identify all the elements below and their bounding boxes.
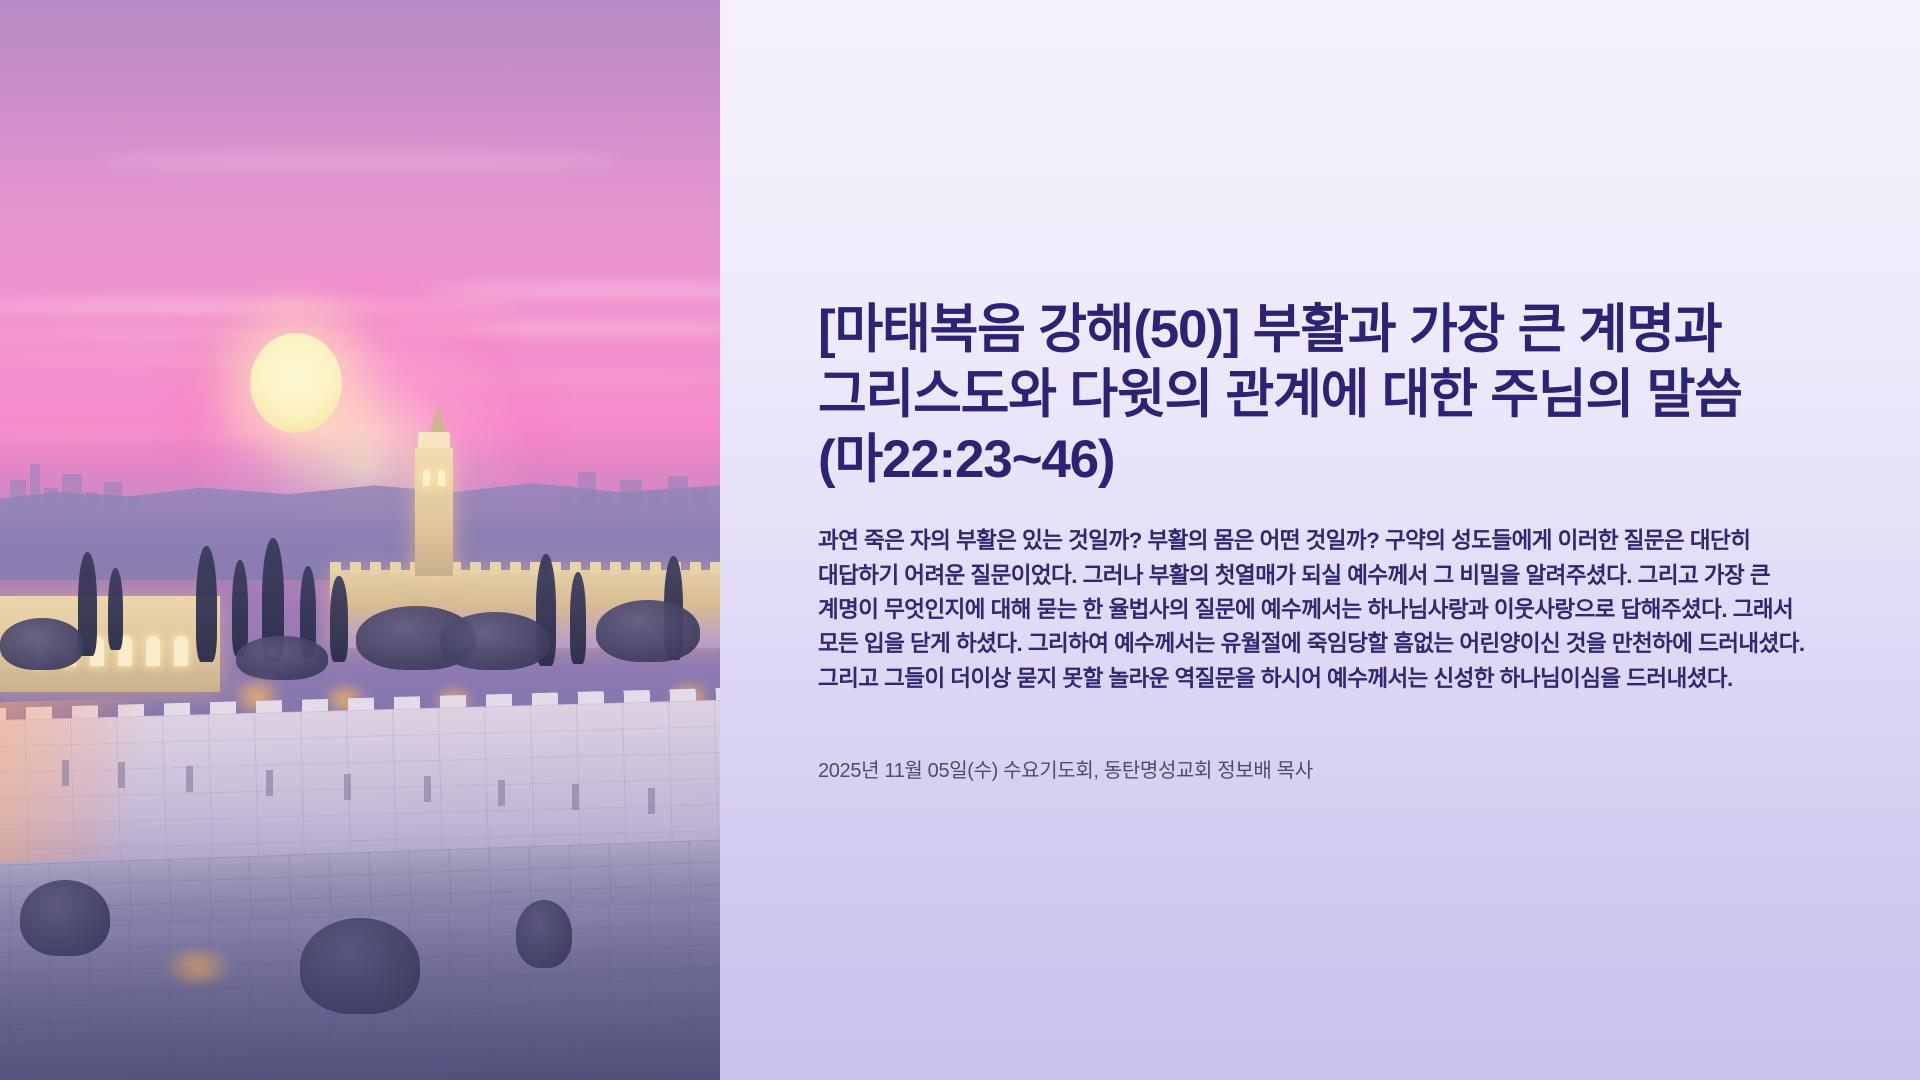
arched-window-icon — [174, 636, 188, 666]
sermon-slide: [마태복음 강해(50)] 부활과 가장 큰 계명과 그리스도와 다윗의 관계에… — [0, 0, 1920, 1080]
cypress-tree — [570, 572, 586, 664]
cypress-tree — [330, 576, 348, 662]
arrow-slit — [62, 760, 69, 786]
crenellation-row — [330, 562, 720, 574]
cloud-band-icon — [100, 150, 620, 172]
arrow-slit — [498, 780, 505, 806]
cypress-tree — [196, 546, 217, 662]
jerusalem-sunset-photo — [0, 0, 720, 1080]
cypress-tree — [232, 560, 248, 656]
cypress-tree — [108, 568, 123, 650]
arrow-slit — [648, 788, 655, 814]
arched-window-icon — [146, 636, 160, 666]
arrow-slit — [266, 770, 273, 796]
tree-canopy — [596, 600, 700, 662]
arrow-slit — [572, 784, 579, 810]
sermon-summary: 과연 죽은 자의 부활은 있는 것일까? 부활의 몸은 어떤 것일까? 구약의 … — [818, 524, 1824, 696]
window-light-icon — [423, 470, 430, 486]
tree-canopy — [0, 618, 84, 670]
tree-canopy — [236, 636, 328, 680]
arrow-slit — [344, 774, 351, 800]
window-light-icon — [438, 470, 445, 486]
sun-disc-icon — [250, 333, 342, 433]
minaret-spire-icon — [430, 404, 446, 434]
arrow-slit — [118, 762, 125, 788]
tree-canopy — [440, 612, 550, 670]
text-panel: [마태복음 강해(50)] 부활과 가장 큰 계명과 그리스도와 다윗의 관계에… — [720, 0, 1920, 1080]
foreground-shadow — [0, 820, 720, 1080]
service-info-footer: 2025년 11월 05일(수) 수요기도회, 동탄명성교회 정보배 목사 — [818, 754, 1824, 783]
arrow-slit — [424, 776, 431, 802]
sermon-title: [마태복음 강해(50)] 부활과 가장 큰 계명과 그리스도와 다윗의 관계에… — [818, 297, 1824, 493]
arrow-slit — [186, 766, 193, 792]
minaret-tower — [415, 448, 453, 576]
